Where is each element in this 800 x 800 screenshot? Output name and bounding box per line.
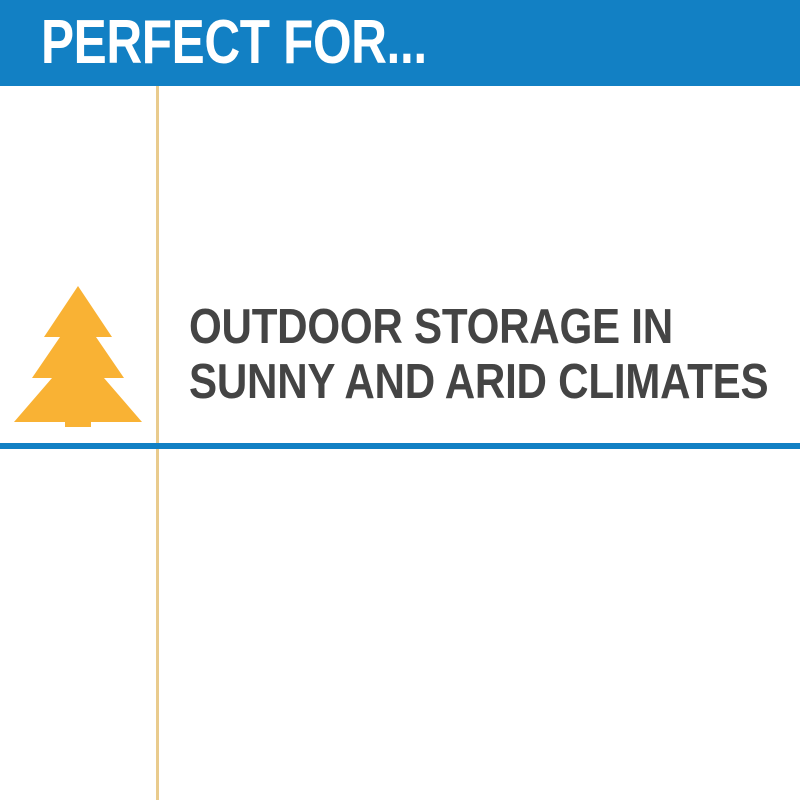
feature-text-line: SUNNY AND ARID CLIMATES	[189, 355, 791, 410]
feature-row-outdoor-storage: OUTDOOR STORAGE IN SUNNY AND ARID CLIMAT…	[0, 86, 800, 443]
feature-text-outdoor-storage: OUTDOOR STORAGE IN SUNNY AND ARID CLIMAT…	[189, 300, 791, 410]
page-title: PERFECT FOR...	[41, 3, 427, 83]
header-banner: PERFECT FOR...	[0, 0, 800, 86]
infographic-page: PERFECT FOR... OUTDOOR STORAGE IN SUNNY …	[0, 0, 800, 800]
feature-row-regions: SOUTHERN CA, NV, NM, AND ALONG THE ROCKI…	[0, 449, 800, 800]
pine-tree-icon	[8, 282, 148, 432]
feature-text-line: OUTDOOR STORAGE IN	[189, 300, 791, 355]
